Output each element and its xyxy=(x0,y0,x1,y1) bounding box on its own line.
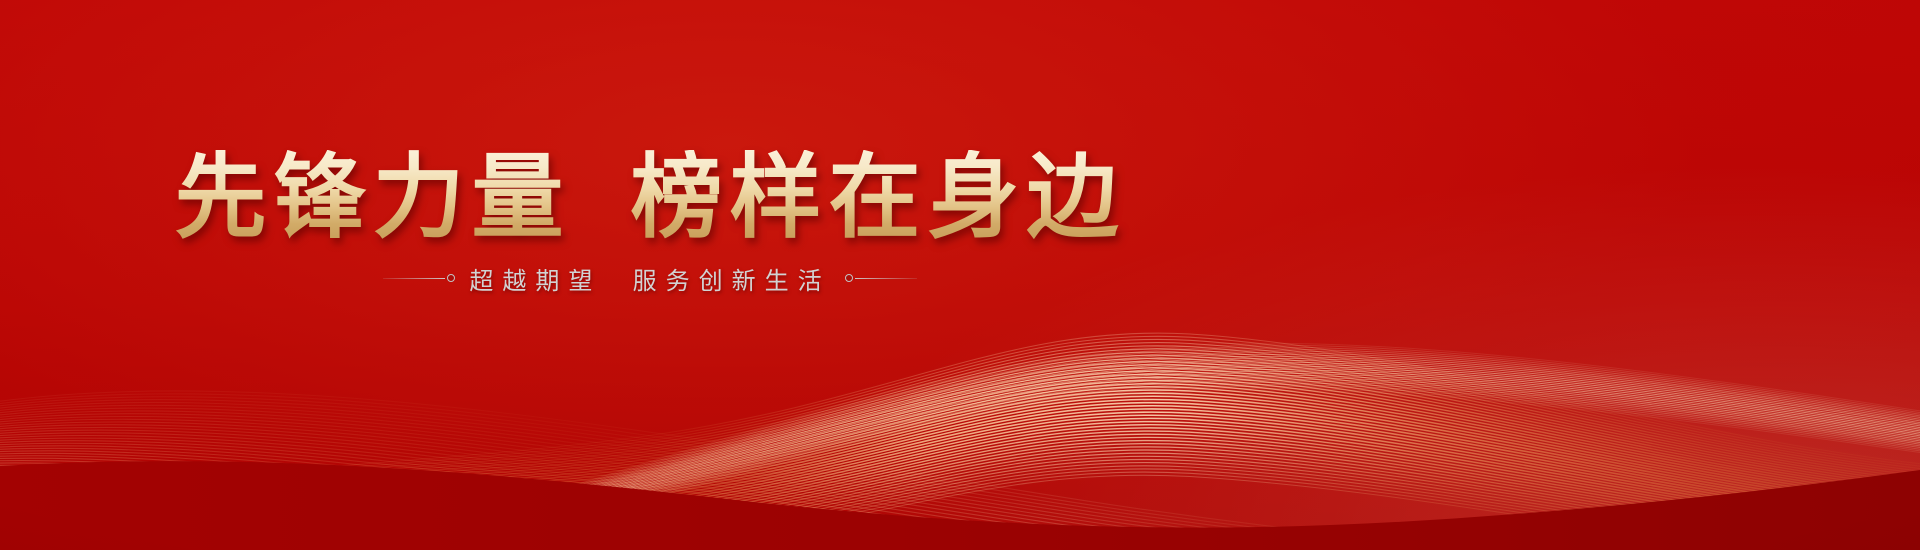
ornament-line xyxy=(855,278,917,279)
line-dot-ornament-right-icon xyxy=(845,274,917,282)
page-title: 先锋力量 榜样在身边 xyxy=(174,150,1125,247)
ornament-dot xyxy=(845,274,853,282)
ornament-line xyxy=(383,278,445,279)
banner-text-block: 先锋力量 榜样在身边 超越期望 服务创新生活 xyxy=(0,150,1300,296)
ornament-dot xyxy=(447,274,455,282)
foreground-wave-path xyxy=(0,461,1920,550)
subtitle-row: 超越期望 服务创新生活 xyxy=(0,261,1300,296)
line-dot-ornament-left-icon xyxy=(383,274,455,282)
banner-root: 先锋力量 榜样在身边 超越期望 服务创新生活 xyxy=(0,0,1920,550)
page-subtitle: 超越期望 服务创新生活 xyxy=(469,261,830,296)
